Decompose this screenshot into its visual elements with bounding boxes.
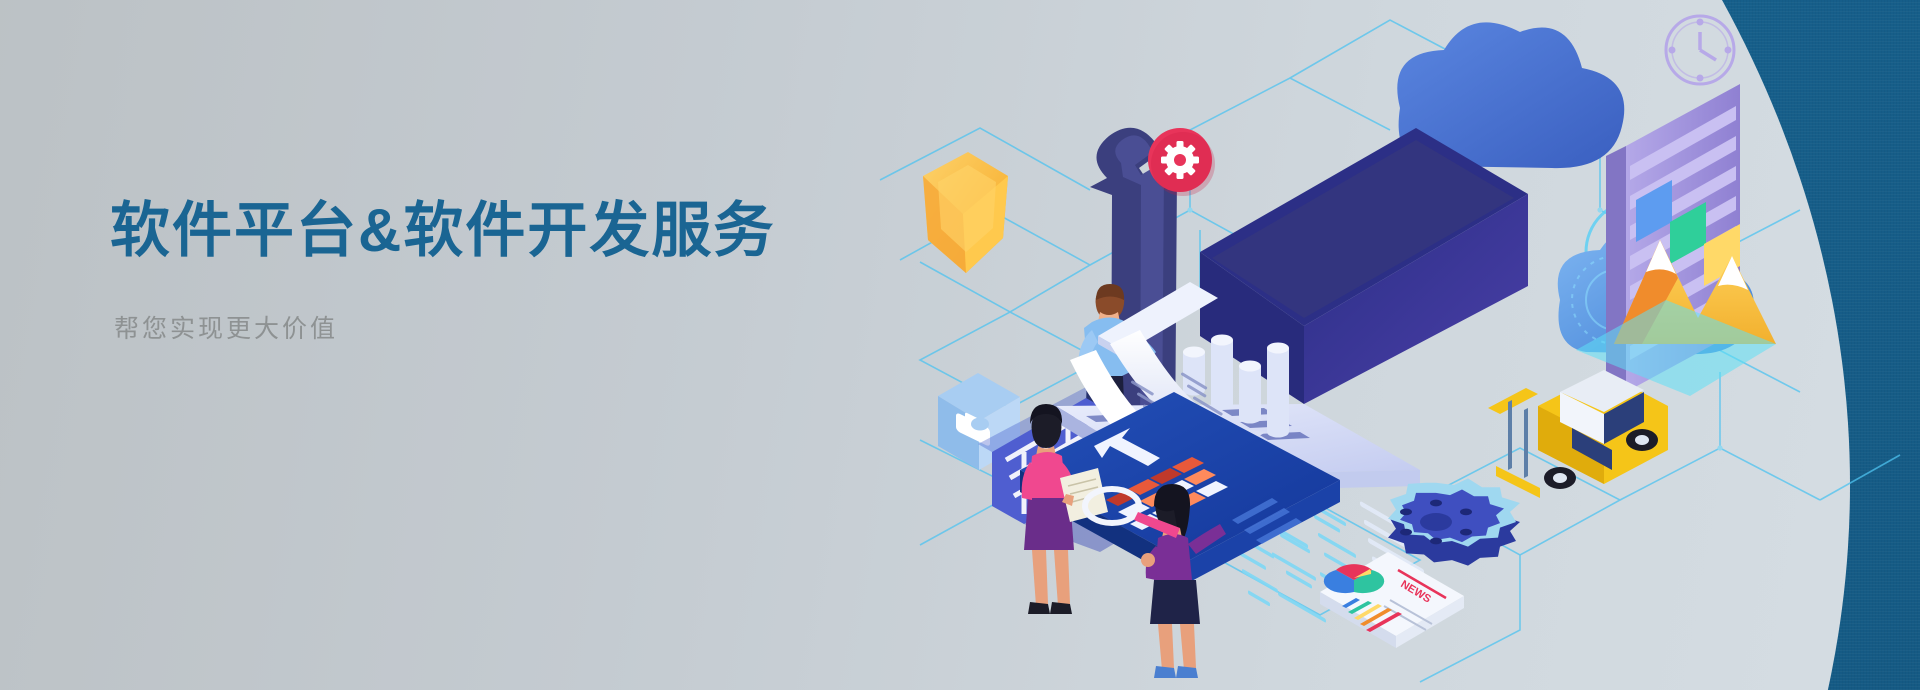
news-card: NEWS: [1320, 552, 1464, 648]
page-title: 软件平台&软件开发服务: [110, 196, 775, 265]
banner-copy: 软件平台&软件开发服务 帮您实现更大价值: [110, 196, 775, 345]
hero-banner: 软件平台&软件开发服务 帮您实现更大价值: [0, 0, 1920, 690]
clock-icon: [1666, 16, 1734, 84]
gears: [1388, 478, 1520, 565]
page-subtitle: 帮您实现更大价值: [114, 309, 775, 345]
hero-illustration: NEWS: [860, 0, 1920, 690]
shield-icon: [923, 152, 1008, 273]
